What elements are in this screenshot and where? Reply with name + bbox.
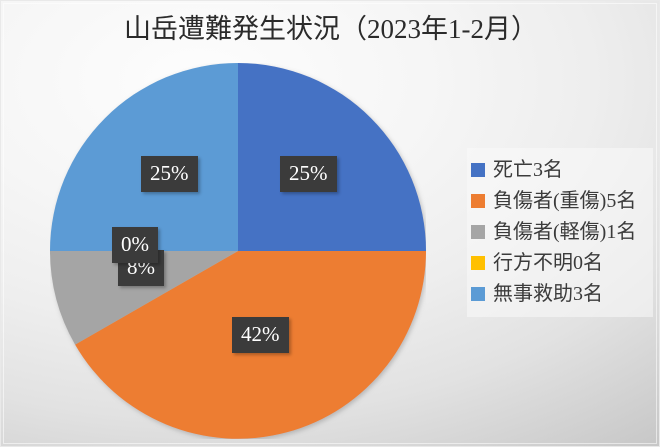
pie-chart-plot-area [50,63,426,439]
chart-title: 山岳遭難発生状況（2023年1-2月） [1,9,660,49]
data-label-fushousha-jusho: 42% [232,317,289,353]
legend-label-shibou: 死亡3名 [493,159,563,181]
chart-legend: 死亡3名 負傷者(重傷)5名 負傷者(軽傷)1名 行方不明0名 無事救助3名 [467,148,653,317]
data-label-bujikyujo: 25% [141,156,198,192]
chart-canvas: 山岳遭難発生状況（2023年1-2月） 25% 42% 8% 0% 25% 死亡… [0,0,660,447]
legend-label-yukuefumei: 行方不明0名 [493,252,603,274]
legend-item-bujikyujo[interactable]: 無事救助3名 [471,278,649,309]
legend-swatch-bujikyujo [471,287,485,301]
legend-label-fushousha-jusho: 負傷者(重傷)5名 [493,190,636,212]
legend-item-yukuefumei[interactable]: 行方不明0名 [471,247,649,278]
data-label-shibou: 25% [280,156,337,192]
legend-item-fushousha-jusho[interactable]: 負傷者(重傷)5名 [471,185,649,216]
legend-item-fushousha-keisho[interactable]: 負傷者(軽傷)1名 [471,216,649,247]
legend-label-fushousha-keisho: 負傷者(軽傷)1名 [493,221,636,243]
legend-swatch-fushousha-keisho [471,225,485,239]
legend-swatch-fushousha-jusho [471,194,485,208]
data-label-yukuefumei: 0% [112,227,158,263]
legend-swatch-yukuefumei [471,256,485,270]
legend-label-bujikyujo: 無事救助3名 [493,283,603,305]
legend-item-shibou[interactable]: 死亡3名 [471,154,649,185]
legend-swatch-shibou [471,163,485,177]
pie-svg [50,63,426,439]
